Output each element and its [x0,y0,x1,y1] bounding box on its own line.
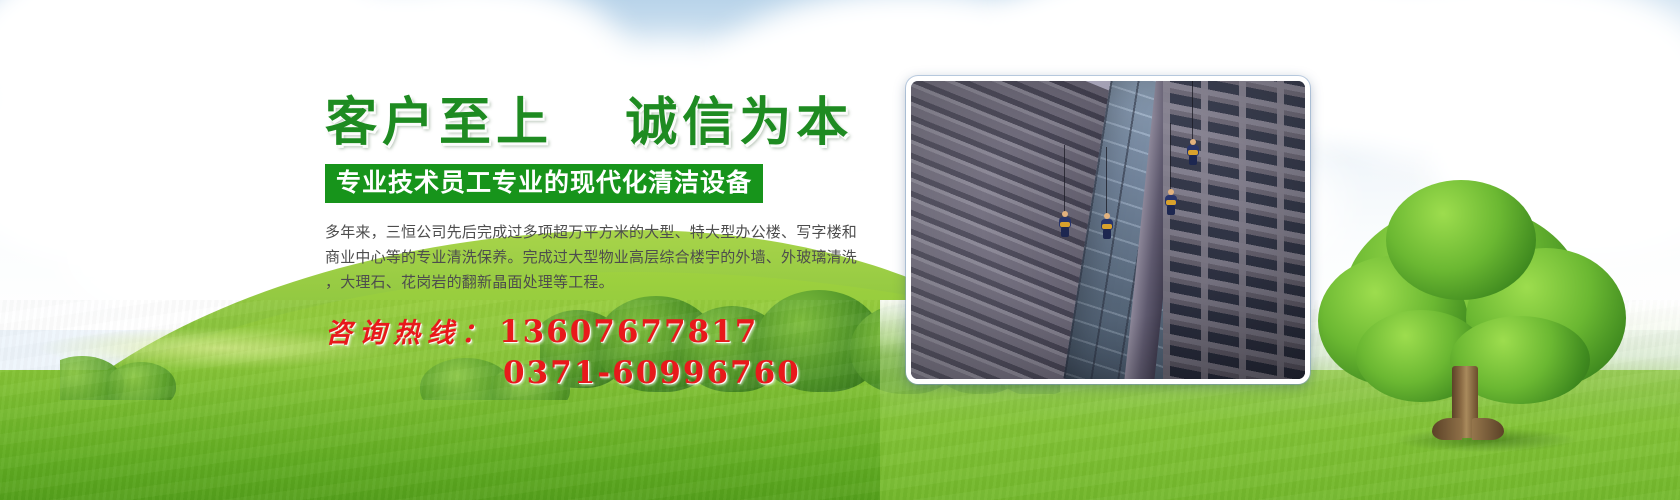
tree-illustration [1300,170,1630,460]
subtitle-bar: 专业技术员工专业的现代化清洁设备 [325,164,763,204]
tree-root [1432,418,1462,440]
promo-banner: 客户至上 诚信为本 专业技术员工专业的现代化清洁设备 多年来，三恒公司先后完成过… [0,0,1680,500]
tree-root [1472,418,1504,440]
subtitle-bar-text: 专业技术员工专业的现代化清洁设备 [336,169,752,198]
contact-landline-row: 0371-60996760 [325,354,905,393]
headline-left: 客户至上 [325,92,553,153]
description-line: 商业中心等的专业清洗保养。完成过大型物业高层综合楼宇的外墙、外玻璃清洗 [325,245,890,270]
contact-block: 咨询热线：13607677817 0371-60996760 [325,313,905,393]
photo-vignette [911,81,1305,379]
copy-block: 客户至上 诚信为本 专业技术员工专业的现代化清洁设备 多年来，三恒公司先后完成过… [325,96,905,393]
tree-canopy [1386,180,1536,300]
headline: 客户至上 诚信为本 [325,96,905,151]
description-line: ，大理石、花岗岩的翻新晶面处理等工程。 [325,270,890,295]
description-paragraph: 多年来，三恒公司先后完成过多项超万平方米的大型、特大型办公楼、写字楼和 商业中心… [325,220,890,295]
contact-phone-landline[interactable]: 0371-60996760 [503,355,801,391]
building-photo-frame [906,76,1310,384]
headline-right: 诚信为本 [625,92,853,153]
building-photo [911,81,1305,379]
description-line: 多年来，三恒公司先后完成过多项超万平方米的大型、特大型办公楼、写字楼和 [325,220,890,245]
contact-phone-mobile[interactable]: 13607677817 [499,314,758,350]
contact-hotline-row: 咨询热线：13607677817 [325,313,905,352]
contact-hotline-label: 咨询热线： [325,318,495,349]
